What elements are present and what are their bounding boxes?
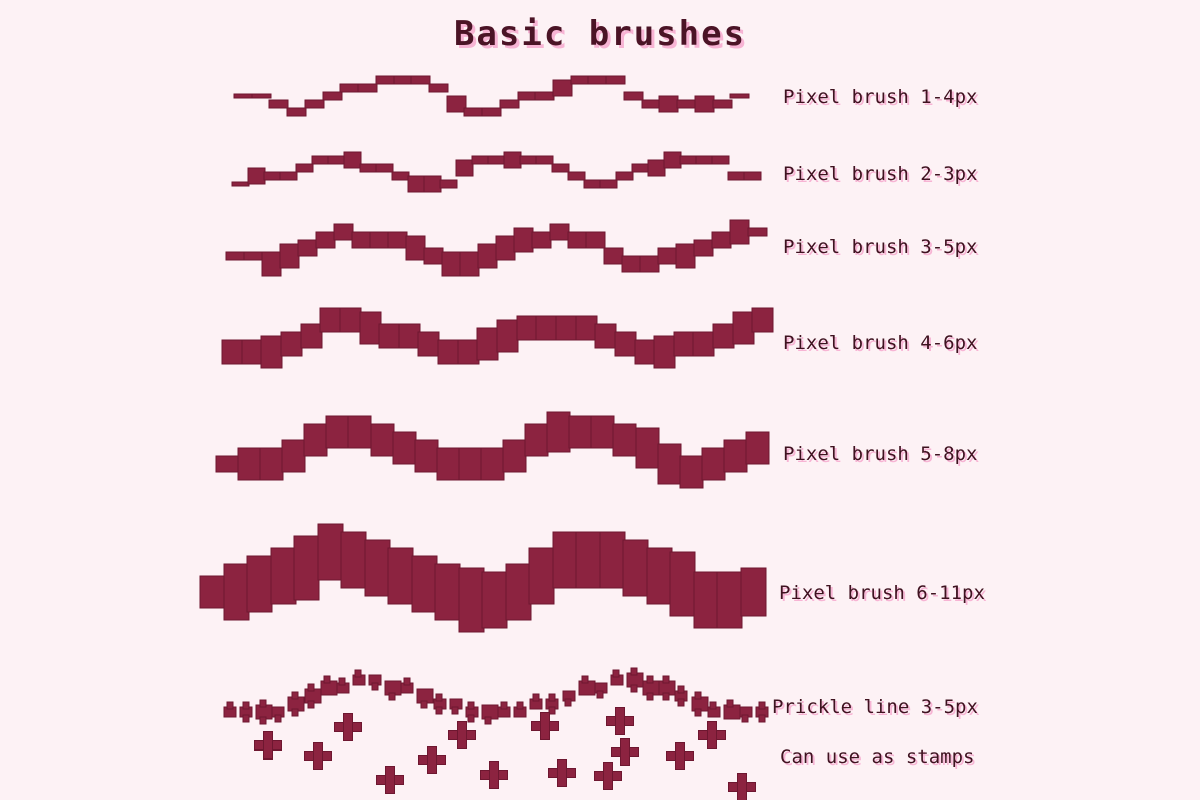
prickle-stamp (612, 739, 639, 766)
label-can-use-as-stamps: Can use as stamps (780, 746, 974, 768)
label-pixel-brush-6-11: Pixel brush 6-11px (779, 582, 985, 604)
prickle-stamp (305, 743, 332, 770)
prickle-stamp (377, 767, 404, 794)
brush-stroke-pixel-brush-2-3 (232, 152, 761, 192)
brush-stroke-prickle-line-3-5 (224, 668, 768, 724)
prickle-stamp (481, 762, 508, 789)
brush-stroke-pixel-brush-1-4 (234, 76, 749, 116)
label-prickle-line-3-5: Prickle line 3-5px (772, 696, 978, 718)
prickle-stamp (667, 743, 694, 770)
label-pixel-brush-3-5: Pixel brush 3-5px (783, 236, 977, 258)
prickle-stamp (595, 763, 622, 790)
brush-stroke-pixel-brush-4-6 (222, 308, 773, 368)
brush-sample-canvas (0, 0, 1200, 800)
prickle-stamps (255, 708, 756, 800)
prickle-stamp (549, 760, 576, 787)
prickle-stamp (255, 732, 282, 759)
page-title: Basic brushes (0, 14, 1200, 54)
label-pixel-brush-4-6: Pixel brush 4-6px (783, 332, 977, 354)
prickle-stamp (419, 747, 446, 774)
prickle-stamp (449, 722, 476, 749)
brush-stroke-pixel-brush-3-5 (226, 220, 767, 276)
label-pixel-brush-5-8: Pixel brush 5-8px (783, 443, 977, 465)
prickle-stamp (699, 722, 726, 749)
prickle-stamp (532, 713, 559, 740)
label-pixel-brush-1-4: Pixel brush 1-4px (783, 86, 977, 108)
label-pixel-brush-2-3: Pixel brush 2-3px (783, 163, 977, 185)
prickle-stamp (335, 714, 362, 741)
brush-stroke-pixel-brush-6-11 (200, 524, 766, 632)
prickle-stamp (729, 774, 756, 800)
prickle-stamp (607, 708, 634, 735)
brush-stroke-pixel-brush-5-8 (216, 412, 769, 488)
